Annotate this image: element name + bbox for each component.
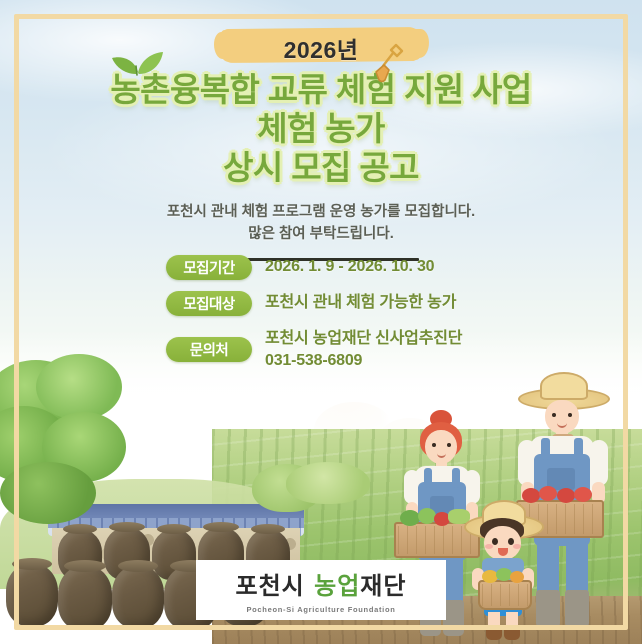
info-row-target: 모집대상 포천시 관내 체험 가능한 농가: [0, 291, 642, 316]
title-block: 농촌융복합 교류 체험 지원 사업 체험 농가 상시 모집 공고: [0, 70, 642, 187]
logo-text-part2: 재단: [360, 572, 406, 600]
subtitle-line-1: 포천시 관내 체험 프로그램 운영 농가를 모집합니다.: [0, 201, 642, 223]
year-label: 2026년: [284, 31, 359, 65]
badge-contact: 문의처: [166, 337, 252, 362]
value-period: 2026. 1. 9 - 2026. 10. 30: [265, 255, 434, 278]
title-line-3: 상시 모집 공고: [0, 148, 642, 187]
year-banner: 2026년: [0, 22, 642, 68]
contact-office: 포천시 농업재단 신사업추진단: [265, 330, 462, 347]
onggi-jar: [112, 566, 164, 628]
bush: [286, 462, 370, 504]
badge-period: 모집기간: [166, 255, 252, 280]
info-row-period: 모집기간 2026. 1. 9 - 2026. 10. 30: [0, 255, 642, 280]
logo-korean-text: 포천시 농업재단: [236, 566, 407, 601]
info-section: 모집기간 2026. 1. 9 - 2026. 10. 30 모집대상 포천시 …: [0, 255, 642, 383]
vegetable-basket: [478, 580, 532, 610]
subtitle-block: 포천시 관내 체험 프로그램 운영 농가를 모집합니다. 많은 참여 부탁드립니…: [0, 201, 642, 245]
logo-english-text: Pocheon-Si Agriculture Foundation: [246, 605, 395, 614]
value-contact: 포천시 농업재단 신사업추진단 031-538-6809: [265, 327, 462, 372]
badge-target: 모집대상: [166, 291, 252, 316]
subtitle-line-2: 많은 참여 부탁드립니다.: [0, 223, 642, 245]
onggi-jar: [58, 566, 112, 630]
leaves-icon: [106, 44, 166, 78]
poster-header: 2026년 농촌융복합 교류 체험 지원 사업 체험 농가 상시 모집 공고 포…: [0, 0, 642, 261]
onggi-jar: [6, 564, 58, 626]
poster-canvas: 2026년 농촌융복합 교류 체험 지원 사업 체험 농가 상시 모집 공고 포…: [0, 0, 642, 644]
foundation-logo: 포천시 농업재단 Pocheon-Si Agriculture Foundati…: [196, 560, 446, 620]
shovel-icon: [371, 42, 405, 86]
farmer-child: [464, 496, 542, 644]
logo-text-green: 농업: [314, 572, 360, 600]
title-line-1: 농촌융복합 교류 체험 지원 사업: [0, 70, 642, 109]
logo-text-part1: 포천시: [236, 572, 315, 600]
info-row-contact: 문의처 포천시 농업재단 신사업추진단 031-538-6809: [0, 327, 642, 372]
title-line-2: 체험 농가: [0, 109, 642, 148]
value-target: 포천시 관내 체험 가능한 농가: [265, 291, 456, 314]
contact-phone: 031-538-6809: [265, 350, 462, 372]
